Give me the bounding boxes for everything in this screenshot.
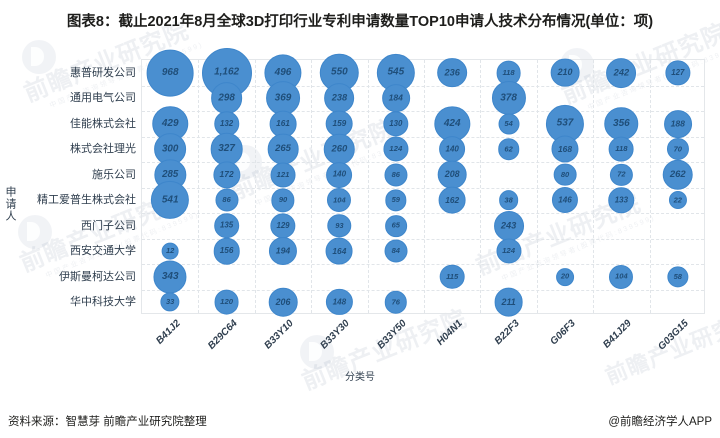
bubble-data-point[interactable]: 22 — [669, 191, 687, 209]
x-axis-category-list: B41J2B29C64B33Y10B33Y30B33Y50H04N1B22F3G… — [141, 318, 705, 363]
gridline-vertical — [255, 60, 256, 313]
bubble-value-label: 118 — [615, 144, 627, 153]
bubble-data-point[interactable]: 172 — [213, 161, 240, 188]
bubble-value-label: 135 — [220, 221, 233, 230]
x-axis-category-label: B33Y50 — [375, 318, 408, 351]
gridline-vertical — [198, 60, 199, 313]
bubble-value-label: 133 — [615, 195, 628, 204]
bubble-value-label: 148 — [333, 297, 347, 306]
bubble-data-point[interactable]: 54 — [498, 113, 519, 134]
bubble-data-point[interactable]: 343 — [154, 260, 187, 293]
bubble-value-label: 541 — [162, 194, 179, 205]
bubble-value-label: 369 — [275, 92, 292, 103]
bubble-value-label: 210 — [558, 67, 573, 77]
bubble-value-label: 121 — [277, 170, 290, 179]
bubble-value-label: 58 — [674, 272, 682, 281]
bubble-value-label: 104 — [333, 195, 346, 204]
bubble-value-label: 327 — [218, 143, 235, 154]
bubble-value-label: 537 — [557, 118, 574, 129]
bubble-value-label: 86 — [222, 195, 230, 204]
bubble-chart-plot-area: 9681,16249655054523611821024212729836923… — [141, 59, 705, 314]
bubble-data-point[interactable]: 242 — [606, 58, 636, 88]
bubble-data-point[interactable]: 104 — [327, 188, 351, 212]
y-axis-category-label: 华中科技大学 — [70, 293, 136, 309]
bubble-data-point[interactable]: 62 — [498, 138, 520, 160]
bubble-data-point[interactable]: 38 — [499, 190, 519, 210]
bubble-data-point[interactable]: 148 — [326, 289, 352, 315]
source-note: 资料来源：智慧芽 前瞻产业研究院整理 — [8, 413, 207, 429]
x-axis-category-label: B33Y10 — [262, 318, 295, 351]
bubble-value-label: 172 — [220, 169, 234, 179]
bubble-value-label: 104 — [615, 272, 628, 281]
bubble-value-label: 54 — [504, 119, 512, 128]
bubble-value-label: 161 — [276, 118, 290, 128]
bubble-data-point[interactable]: 206 — [269, 288, 298, 317]
bubble-value-label: 378 — [500, 92, 517, 103]
bubble-value-label: 129 — [276, 221, 289, 230]
bubble-value-label: 22 — [674, 195, 682, 204]
y-axis-category-label: 伊斯曼柯达公司 — [59, 268, 136, 284]
bubble-data-point[interactable]: 156 — [213, 238, 240, 265]
bubble-value-label: 550 — [331, 67, 348, 78]
bubble-data-point[interactable]: 238 — [325, 83, 355, 113]
bubble-value-label: 120 — [220, 297, 233, 306]
bubble-value-label: 156 — [220, 246, 234, 255]
bubble-data-point[interactable]: 72 — [610, 164, 632, 186]
bubble-data-point[interactable]: 129 — [270, 213, 295, 238]
bubble-value-label: 146 — [558, 195, 571, 204]
y-axis-category-label: 西安交通大学 — [70, 242, 136, 258]
x-axis-category-label: G06F3 — [548, 318, 577, 347]
bubble-value-label: 429 — [162, 118, 179, 129]
bubble-value-label: 124 — [502, 246, 515, 255]
bubble-data-point[interactable]: 20 — [556, 268, 574, 286]
bubble-data-point[interactable]: 80 — [554, 163, 577, 186]
bubble-data-point[interactable]: 65 — [385, 215, 407, 237]
bubble-value-label: 168 — [558, 144, 572, 154]
bubble-data-point[interactable]: 188 — [664, 110, 692, 138]
bubble-value-label: 356 — [613, 118, 630, 129]
bubble-value-label: 424 — [444, 118, 461, 129]
bubble-data-point[interactable]: 118 — [609, 137, 634, 162]
bubble-value-label: 194 — [276, 246, 291, 256]
bubble-value-label: 208 — [445, 169, 460, 179]
bubble-value-label: 70 — [674, 144, 682, 153]
bubble-value-label: 33 — [166, 297, 174, 306]
bubble-value-label: 140 — [446, 144, 459, 153]
bubble-value-label: 300 — [162, 143, 178, 154]
bubble-data-point[interactable]: 262 — [663, 159, 694, 190]
bubble-data-point[interactable]: 184 — [382, 84, 410, 112]
bubble-data-point[interactable]: 243 — [494, 211, 524, 241]
bubble-data-point[interactable]: 58 — [667, 266, 688, 287]
bubble-data-point[interactable]: 260 — [324, 134, 355, 165]
gridline-vertical — [537, 60, 538, 313]
gridline-vertical — [368, 60, 369, 313]
bubble-value-label: 188 — [671, 118, 685, 128]
page-title: 图表8：截止2021年8月全球3D打印行业专利申请数量TOP10申请人技术分布情… — [0, 10, 720, 31]
bubble-value-label: 184 — [389, 93, 403, 103]
y-axis-category-label: 惠普研发公司 — [70, 64, 136, 80]
bubble-data-point[interactable]: 33 — [161, 293, 180, 312]
bubble-data-point[interactable]: 211 — [494, 288, 523, 317]
bubble-data-point[interactable]: 86 — [215, 189, 238, 212]
bubble-value-label: 1,162 — [214, 67, 239, 78]
bubble-value-label: 65 — [392, 221, 400, 230]
x-axis-category-label: B29C64 — [206, 318, 240, 352]
bubble-data-point[interactable]: 70 — [667, 138, 689, 160]
bubble-value-label: 80 — [561, 170, 569, 179]
bubble-data-point[interactable]: 115 — [440, 264, 465, 289]
gridline-vertical — [650, 60, 651, 313]
bubble-value-label: 76 — [392, 297, 400, 306]
bubble-data-point[interactable]: 130 — [383, 111, 408, 136]
bubble-data-point[interactable]: 124 — [383, 137, 408, 162]
x-axis-category-label: B33Y30 — [319, 318, 352, 351]
x-axis-category-label: B41J29 — [602, 318, 635, 351]
bubble-data-point[interactable]: 121 — [271, 162, 296, 187]
bubble-value-label: 211 — [501, 297, 515, 307]
bubble-value-label: 38 — [504, 195, 512, 204]
bubble-value-label: 20 — [561, 272, 569, 281]
bubble-value-label: 84 — [392, 246, 400, 255]
bubble-value-label: 90 — [279, 195, 287, 204]
bubble-data-point[interactable]: 298 — [211, 82, 243, 114]
bubble-data-point[interactable]: 133 — [609, 187, 635, 213]
gridline-vertical — [311, 60, 312, 313]
bubble-value-label: 86 — [392, 170, 400, 179]
bubble-value-label: 242 — [614, 67, 629, 77]
y-axis-category-list: 惠普研发公司通用电气公司佳能株式会社株式会社理光施乐公司精工爱普生株式会社西门子… — [0, 59, 136, 314]
bubble-data-point[interactable]: 76 — [385, 291, 407, 313]
y-axis-category-label: 西门子公司 — [81, 217, 136, 233]
bubble-value-label: 496 — [275, 67, 292, 78]
bubble-value-label: 62 — [504, 144, 512, 153]
x-axis-category-label: B41J2 — [154, 318, 183, 347]
y-axis-category-label: 株式会社理光 — [70, 140, 136, 156]
bubble-data-point[interactable]: 93 — [328, 214, 351, 237]
bubble-data-point[interactable]: 146 — [552, 187, 578, 213]
bubble-value-label: 159 — [332, 119, 346, 128]
bubble-value-label: 127 — [671, 68, 684, 77]
gridline-vertical — [424, 60, 425, 313]
bubble-data-point[interactable]: 194 — [269, 237, 297, 265]
bubble-data-point[interactable]: 124 — [496, 239, 521, 264]
bubble-value-label: 236 — [445, 67, 460, 77]
bubble-value-label: 206 — [276, 297, 291, 307]
bubble-value-label: 285 — [162, 169, 178, 180]
bubble-data-point[interactable]: 236 — [437, 58, 467, 88]
bubble-value-label: 298 — [218, 92, 234, 103]
bubble-value-label: 93 — [335, 221, 343, 230]
bubble-value-label: 262 — [670, 169, 686, 180]
bubble-data-point[interactable]: 84 — [384, 240, 407, 263]
bubble-data-point[interactable]: 12 — [162, 243, 179, 260]
y-axis-category-label: 通用电气公司 — [70, 89, 136, 105]
gridline-vertical — [480, 60, 481, 313]
x-axis-category-label: H04N1 — [435, 318, 465, 348]
bubble-data-point[interactable]: 265 — [268, 134, 299, 165]
bubble-value-label: 140 — [333, 170, 346, 179]
x-axis-title: 分类号 — [0, 368, 720, 383]
bubble-value-label: 115 — [446, 272, 458, 281]
bubble-data-point[interactable]: 59 — [385, 190, 406, 211]
bubble-data-point[interactable]: 127 — [665, 60, 690, 85]
bubble-value-label: 243 — [501, 220, 516, 230]
bubble-data-point[interactable]: 356 — [605, 107, 638, 140]
bubble-value-label: 238 — [332, 93, 347, 103]
bubble-data-point[interactable]: 378 — [492, 81, 526, 115]
y-axis-category-label: 佳能株式会社 — [70, 115, 136, 131]
y-axis-category-label: 精工爱普生株式会社 — [37, 191, 136, 207]
bubble-data-point[interactable]: 968 — [147, 49, 194, 96]
bubble-data-point[interactable]: 104 — [609, 265, 633, 289]
bubble-value-label: 130 — [389, 119, 402, 128]
bubble-value-label: 545 — [387, 67, 404, 78]
bubble-value-label: 260 — [332, 143, 348, 154]
bubble-value-label: 12 — [166, 246, 174, 255]
bubble-value-label: 162 — [445, 195, 459, 205]
bubble-data-point[interactable]: 208 — [438, 160, 467, 189]
bubble-value-label: 343 — [162, 271, 179, 282]
bubble-value-label: 265 — [275, 143, 291, 154]
bubble-value-label: 59 — [392, 195, 400, 204]
bubble-data-point[interactable]: 90 — [271, 189, 294, 212]
bubble-data-point[interactable]: 140 — [326, 162, 352, 188]
bubble-value-label: 118 — [502, 68, 514, 77]
credit-note: @前瞻经济学人APP — [608, 413, 712, 429]
bubble-value-label: 132 — [220, 119, 233, 128]
x-axis-category-label: B22F3 — [492, 318, 521, 347]
bubble-value-label: 968 — [162, 67, 179, 78]
bubble-data-point[interactable]: 86 — [384, 163, 407, 186]
y-axis-category-label: 施乐公司 — [92, 166, 136, 182]
bubble-data-point[interactable]: 120 — [214, 290, 239, 315]
gridline-vertical — [593, 60, 594, 313]
bubble-data-point[interactable]: 164 — [326, 238, 353, 265]
bubble-data-point[interactable]: 210 — [551, 58, 580, 87]
x-axis-category-label: G03G15 — [656, 318, 691, 353]
bubble-data-point[interactable]: 162 — [439, 187, 466, 214]
bubble-data-point[interactable]: 140 — [439, 136, 465, 162]
bubble-data-point[interactable]: 168 — [551, 136, 578, 163]
bubble-value-label: 72 — [617, 170, 625, 179]
bubble-data-point[interactable]: 135 — [214, 213, 240, 239]
bubble-value-label: 164 — [332, 246, 346, 256]
bubble-value-label: 124 — [389, 144, 402, 153]
